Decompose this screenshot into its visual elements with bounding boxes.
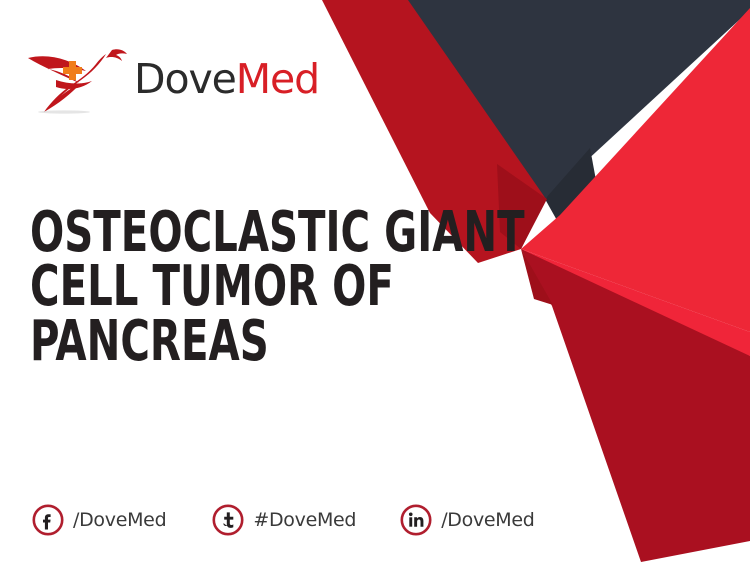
- crimson-lower-spur-shape: [521, 249, 553, 305]
- linkedin-icon[interactable]: [400, 504, 432, 536]
- page-title-line-3: PANCREAS: [30, 315, 406, 369]
- brand-logo[interactable]: DoveMed: [26, 36, 326, 118]
- bright-red-lower-wedge-shape: [521, 249, 750, 356]
- social-links: /DoveMed #DoveMed /DoveMed: [32, 498, 535, 542]
- wordmark-dove: Dove: [134, 55, 236, 103]
- twitter-icon[interactable]: [212, 504, 244, 536]
- navy-triangle-shape: [407, 0, 750, 199]
- bright-red-upper-shape: [521, 8, 750, 332]
- facebook-icon[interactable]: [32, 504, 64, 536]
- twitter-handle[interactable]: #DoveMed: [253, 509, 356, 531]
- social-link-facebook[interactable]: /DoveMed: [32, 504, 166, 536]
- brand-wordmark: DoveMed: [134, 59, 319, 100]
- social-link-twitter[interactable]: #DoveMed: [212, 504, 356, 536]
- dove-bird-with-medical-cross-icon: [26, 40, 130, 114]
- navy-triangle-shadow-shape: [545, 148, 601, 224]
- page-title-line-1: OSTEOCLASTIC GIANT: [30, 206, 406, 260]
- page-title: OSTEOCLASTIC GIANT CELL TUMOR OF PANCREA…: [30, 206, 406, 369]
- social-link-linkedin[interactable]: /DoveMed: [400, 504, 534, 536]
- crimson-lower-right-shape: [521, 249, 750, 562]
- linkedin-handle[interactable]: /DoveMed: [441, 509, 534, 531]
- page-title-line-2: CELL TUMOR OF: [30, 260, 406, 314]
- wordmark-med: Med: [236, 55, 319, 103]
- facebook-handle[interactable]: /DoveMed: [73, 509, 166, 531]
- article-cover-card: DoveMed OSTEOCLASTIC GIANT CELL TUMOR OF…: [0, 0, 750, 562]
